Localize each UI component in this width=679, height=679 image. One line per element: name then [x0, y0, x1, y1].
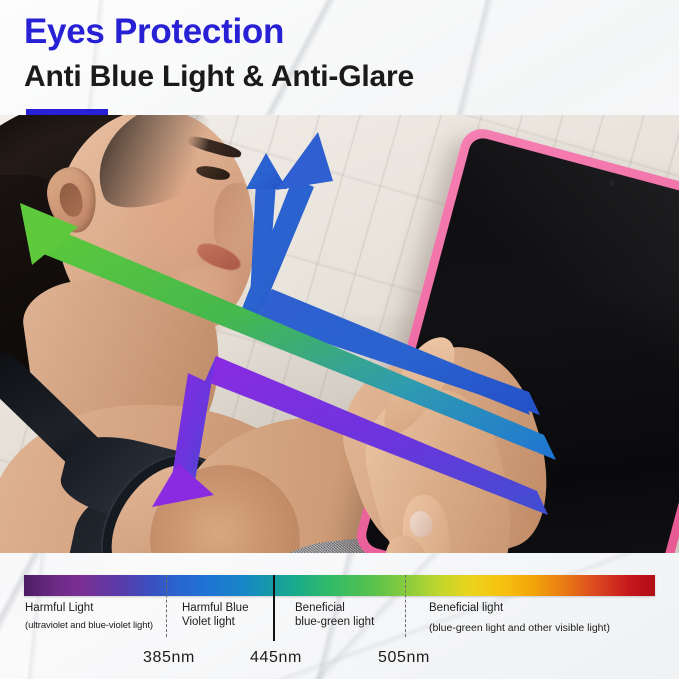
segment-sublabel-beneficial-light: (blue-green light and other visible ligh…: [429, 621, 610, 635]
wavelength-label-445: 445nm: [250, 649, 302, 667]
page-title: Eyes Protection: [24, 11, 284, 53]
segment-label-harmful-light: Harmful Light: [25, 601, 93, 615]
segment-label-harmful-blue-violet-line1: Harmful Blue: [182, 601, 248, 615]
spectrum-gradient-bar: [24, 575, 655, 596]
segment-label-beneficial-light: Beneficial light: [429, 601, 503, 615]
wavelength-label-505: 505nm: [378, 649, 430, 667]
header: Eyes Protection Anti Blue Light & Anti-G…: [0, 0, 679, 115]
hero-photo: [0, 115, 679, 553]
title-underline-rule: [26, 109, 108, 115]
segment-label-beneficial-blue-green-line1: Beneficial: [295, 601, 345, 615]
light-spectrum-panel: Harmful Light (ultraviolet and blue-viol…: [0, 553, 679, 679]
segment-label-beneficial-blue-green-line2: blue-green light: [295, 615, 374, 629]
page-subtitle: Anti Blue Light & Anti-Glare: [24, 59, 414, 95]
product-infographic-page: Eyes Protection Anti Blue Light & Anti-G…: [0, 0, 679, 679]
divider-505: [405, 575, 406, 637]
divider-445: [273, 575, 275, 641]
divider-385: [166, 575, 167, 637]
segment-sublabel-harmful-light: (ultraviolet and blue-violet light): [25, 619, 153, 633]
wavelength-label-385: 385nm: [143, 649, 195, 667]
segment-label-harmful-blue-violet-line2: Violet light: [182, 615, 235, 629]
